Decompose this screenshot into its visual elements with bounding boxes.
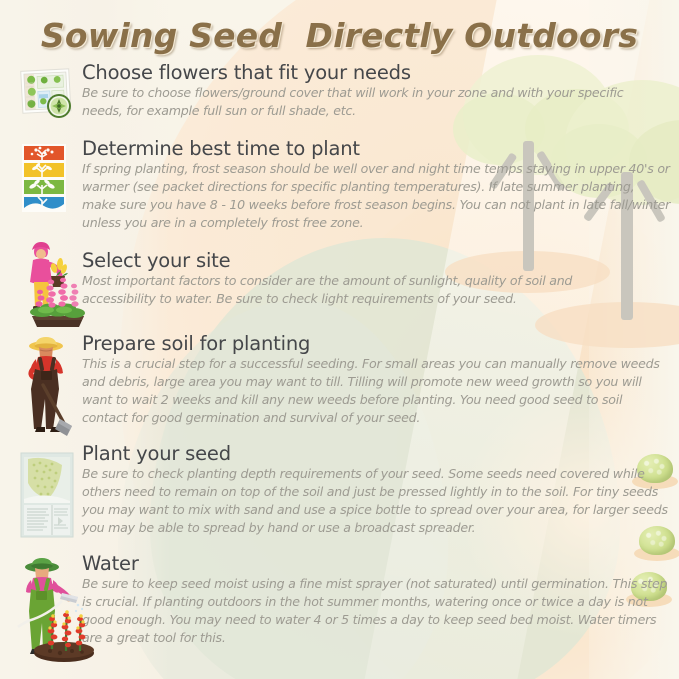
step-body: Be sure to check planting depth requirem…: [82, 465, 671, 537]
step-body: This is a crucial step for a successful …: [82, 355, 671, 427]
page-title: Sowing Seed Directly Outdoors: [0, 16, 679, 55]
step-icon-cell: [10, 62, 82, 134]
garden-plan-map-icon: [16, 64, 78, 126]
woman-with-flower-bed-icon: [16, 238, 88, 330]
step-text-cell: Water Be sure to keep seed moist using a…: [82, 553, 671, 647]
step-heading: Determine best time to plant: [82, 138, 671, 159]
step-item-choose-flowers: Choose flowers that fit your needs Be su…: [10, 62, 671, 134]
step-icon-cell: [10, 333, 82, 405]
four-seasons-icon: [16, 142, 72, 216]
step-item-prepare-soil: Prepare soil for planting This is a cruc…: [10, 333, 671, 427]
step-text-cell: Plant your seed Be sure to check plantin…: [82, 443, 671, 537]
step-icon-cell: [10, 138, 82, 210]
seed-packet-icon: [16, 449, 78, 541]
step-item-determine-time: Determine best time to plant If spring p…: [10, 138, 671, 232]
step-icon-cell: [10, 443, 82, 515]
step-text-cell: Determine best time to plant If spring p…: [82, 138, 671, 232]
step-text-cell: Select your site Most important factors …: [82, 250, 671, 308]
step-body: Be sure to keep seed moist using a fine …: [82, 575, 671, 647]
step-text-cell: Prepare soil for planting This is a cruc…: [82, 333, 671, 427]
gardener-watering-icon: [16, 553, 96, 663]
step-item-water: Water Be sure to keep seed moist using a…: [10, 553, 671, 647]
step-body: Be sure to choose flowers/ground cover t…: [82, 84, 664, 120]
step-heading: Prepare soil for planting: [82, 333, 671, 354]
step-body: Most important factors to consider are t…: [82, 272, 642, 308]
step-heading: Select your site: [82, 250, 671, 271]
infographic-poster: Sowing Seed Directly Outdoors: [0, 0, 679, 679]
step-item-plant-seed: Plant your seed Be sure to check plantin…: [10, 443, 671, 537]
step-heading: Plant your seed: [82, 443, 671, 464]
step-icon-cell: [10, 553, 82, 625]
step-body: If spring planting, frost season should …: [82, 160, 671, 232]
step-icon-cell: [10, 250, 82, 322]
step-heading: Choose flowers that fit your needs: [82, 62, 671, 83]
step-heading: Water: [82, 553, 671, 574]
steps-list: Choose flowers that fit your needs Be su…: [0, 0, 679, 679]
gardener-with-shovel-icon: [16, 333, 80, 437]
step-text-cell: Choose flowers that fit your needs Be su…: [82, 62, 671, 120]
step-item-select-site: Select your site Most important factors …: [10, 250, 671, 322]
